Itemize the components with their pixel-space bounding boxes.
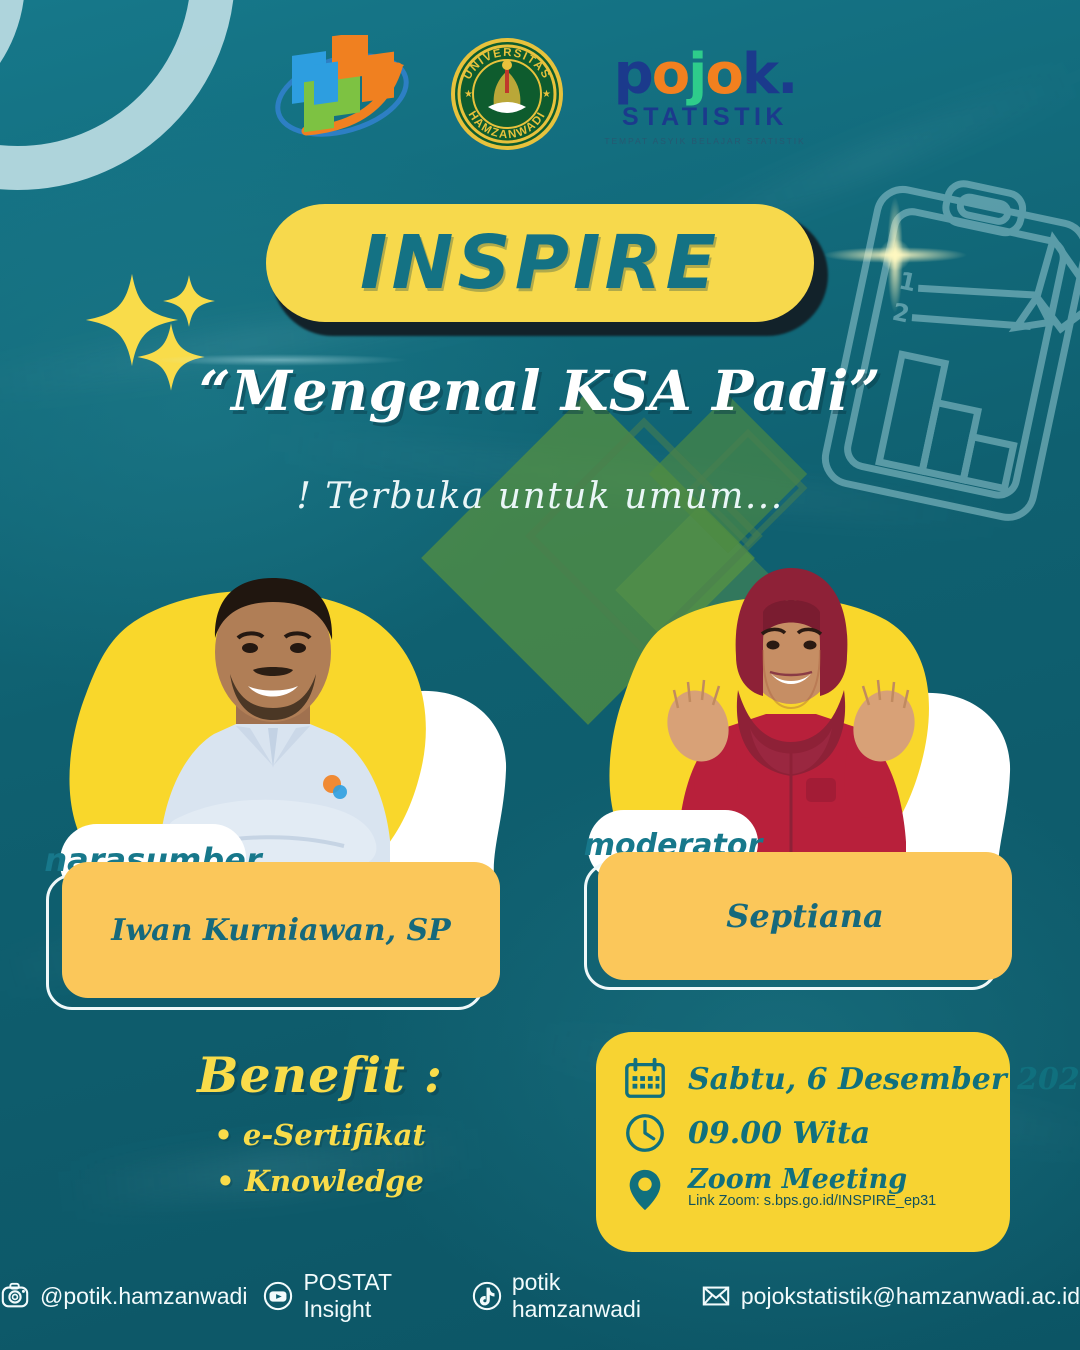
- social-email[interactable]: pojokstatistik@hamzanwadi.ac.id: [701, 1281, 1080, 1311]
- social-instagram[interactable]: @potik.hamzanwadi: [0, 1281, 247, 1311]
- pojok-statistik-tagline: TEMPAT ASYIK BELAJAR STATISTIK: [604, 136, 805, 146]
- instagram-icon: [0, 1281, 30, 1311]
- poster-canvas: 1 2: [0, 0, 1080, 1350]
- email-icon: [701, 1281, 731, 1311]
- instagram-handle: @potik.hamzanwadi: [40, 1283, 247, 1310]
- benefit-section: Benefit : • e-Sertifikat • Knowledge: [110, 1046, 530, 1210]
- svg-text:★: ★: [464, 89, 473, 100]
- clipboard-number-1: 1: [897, 266, 919, 297]
- speaker-name-narasumber: Iwan Kurniawan, SP: [62, 862, 500, 998]
- location-pin-icon: [620, 1164, 670, 1214]
- email-address: pojokstatistik@hamzanwadi.ac.id: [741, 1283, 1080, 1310]
- tiktok-icon: [472, 1281, 502, 1311]
- benefit-list: • e-Sertifikat • Knowledge: [110, 1118, 530, 1198]
- social-youtube[interactable]: POSTAT Insight: [263, 1269, 455, 1323]
- benefit-heading: Benefit :: [110, 1046, 530, 1104]
- event-subtitle: “Mengenal KSA Padi”: [0, 358, 1080, 423]
- detail-row-date: Sabtu, 6 Desember 2025: [620, 1054, 990, 1104]
- pojok-statistik-logo: pojok. STATISTIK TEMPAT ASYIK BELAJAR ST…: [600, 34, 810, 154]
- pojok-wordmark: pojok.: [614, 43, 797, 101]
- detail-row-time: 09.00 Wita: [620, 1108, 990, 1158]
- speaker-name-moderator: Septiana: [598, 852, 1012, 980]
- speaker-card-narasumber: narasumber Iwan Kurniawan, SP: [38, 556, 508, 1026]
- event-details-card: Sabtu, 6 Desember 2025 09.00 Wita Zoom M…: [596, 1032, 1010, 1252]
- event-place: Zoom Meeting: [688, 1164, 936, 1195]
- inspire-badge: INSPIRE: [266, 204, 814, 322]
- event-tagline: ! Terbuka untuk umum...: [0, 476, 1080, 517]
- benefit-item: • e-Sertifikat: [110, 1118, 530, 1152]
- universitas-hamzanwadi-logo: UNIVERSITAS HAMZANWADI ★ ★: [448, 35, 566, 153]
- sparkle-star-small: [162, 274, 216, 328]
- detail-row-place: Zoom Meeting Link Zoom: s.bps.go.id/INSP…: [620, 1164, 990, 1214]
- clipboard-number-2: 2: [890, 298, 912, 329]
- tiktok-handle: potik hamzanwadi: [512, 1269, 685, 1323]
- speaker-card-moderator: moderator Septiana: [576, 556, 1046, 1026]
- event-date: Sabtu, 6 Desember 2025: [688, 1062, 1080, 1097]
- pojok-statistik-subword: STATISTIK: [622, 103, 788, 132]
- footer-social-bar: @potik.hamzanwadi POSTAT Insight potik h…: [0, 1272, 1080, 1320]
- youtube-channel: POSTAT Insight: [303, 1269, 455, 1323]
- bps-logo: [270, 35, 414, 153]
- youtube-icon: [263, 1281, 293, 1311]
- social-tiktok[interactable]: potik hamzanwadi: [472, 1269, 685, 1323]
- badge-pill: INSPIRE: [266, 204, 814, 322]
- svg-text:★: ★: [542, 89, 551, 100]
- event-time: 09.00 Wita: [688, 1116, 870, 1151]
- event-link: Link Zoom: s.bps.go.id/INSPIRE_ep31: [688, 1193, 936, 1209]
- logo-row: UNIVERSITAS HAMZANWADI ★ ★ pojok. STATIS…: [0, 28, 1080, 160]
- benefit-item: • Knowledge: [110, 1164, 530, 1198]
- badge-title: INSPIRE: [360, 220, 720, 306]
- clock-icon: [620, 1108, 670, 1158]
- calendar-icon: [620, 1054, 670, 1104]
